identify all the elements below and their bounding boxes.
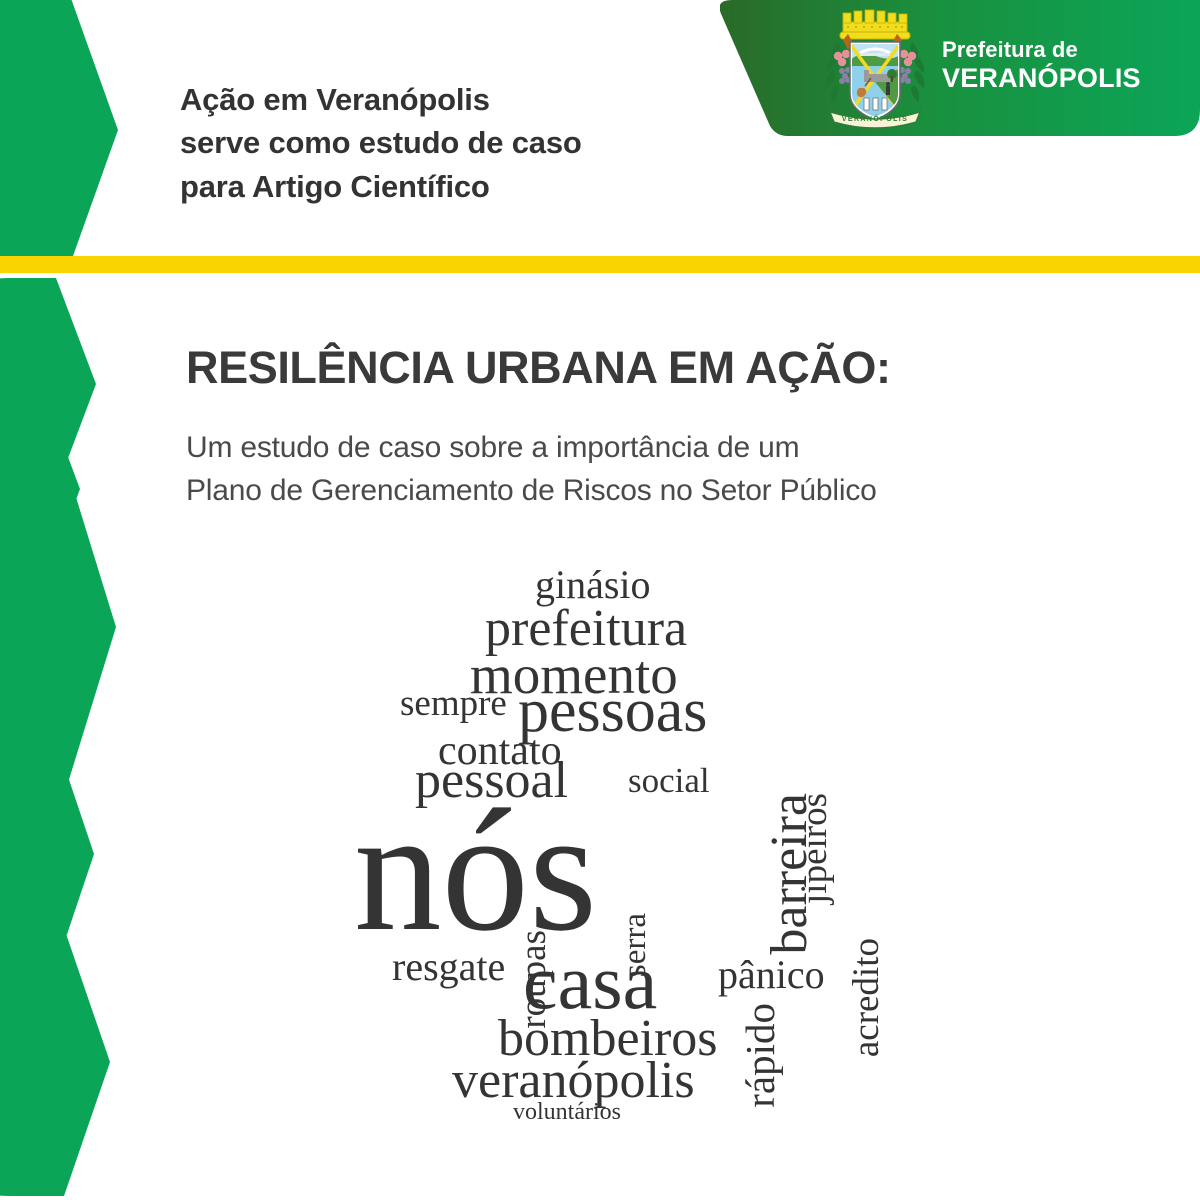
banner-line-veranopolis: VERANÓPOLIS [942,63,1141,93]
banner-line-prefeitura: Prefeitura de [942,38,1141,63]
word-cloud-term: resgate [392,947,505,987]
yellow-divider-rule [0,256,1200,273]
coat-of-arms-icon: VERANÓPOLIS [816,8,934,132]
subtitle-line-1: Um estudo de caso sobre a importância de… [186,427,1116,470]
word-cloud-term: voluntários [513,1100,621,1124]
word-cloud-term: sempre [400,685,507,722]
kicker-headline: Ação em Veranópolis serve como estudo de… [180,78,800,208]
word-cloud-term: jipeiros [796,793,833,904]
word-cloud-term: rápido [740,1003,781,1108]
title-block: RESILÊNCIA URBANA EM AÇÃO: Um estudo de … [186,344,1116,512]
svg-text:VERANÓPOLIS: VERANÓPOLIS [842,114,908,123]
kicker-line-3: para Artigo Científico [180,165,800,208]
page-title: RESILÊNCIA URBANA EM AÇÃO: [186,344,1116,391]
banner-text: Prefeitura de VERANÓPOLIS [942,38,1141,93]
subtitle-line-2: Plano de Gerenciamento de Riscos no Seto… [186,470,1116,513]
chevron-decoration-rail [0,0,160,1200]
word-cloud-term: acredito [848,938,885,1057]
chevron-shape [0,0,118,270]
word-cloud-term: pânico [718,955,825,995]
kicker-line-2: serve como estudo de caso [180,121,800,164]
word-cloud-term: ginásio [535,565,651,605]
kicker-line-1: Ação em Veranópolis [180,78,800,121]
poster-canvas: VERANÓPOLIS Prefeitura de VERANÓPOLIS Aç… [0,0,1200,1200]
word-cloud: ginásioprefeituramomentosemprepessoascon… [330,555,900,1145]
word-cloud-term: social [628,763,710,798]
word-cloud-term: nós [354,783,597,958]
chevron-shape [0,928,110,1196]
